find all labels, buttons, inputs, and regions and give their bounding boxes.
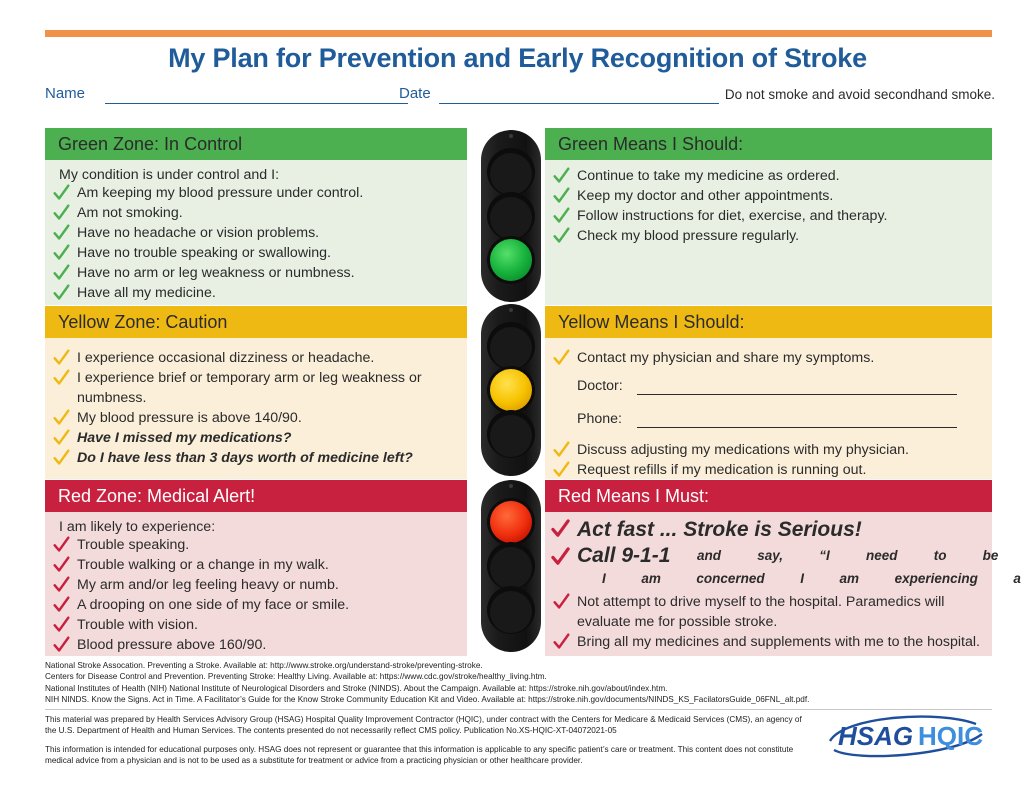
- yellow-means-list-bottom: Discuss adjusting my medications with my…: [549, 441, 982, 481]
- funding-disclaimer-text: This material was prepared by Health Ser…: [45, 714, 805, 736]
- quote-word: need: [866, 544, 898, 567]
- quote-word: “I: [819, 544, 830, 567]
- doctor-label: Doctor:: [577, 378, 623, 394]
- stroke-action-plan-page: My Plan for Prevention and Early Recogni…: [0, 0, 1035, 800]
- check-icon: [553, 226, 570, 245]
- phone-field-row: Phone:: [549, 408, 982, 441]
- list-item-label: Check my blood pressure regularly.: [577, 228, 799, 244]
- list-item: My arm and/or leg feeling heavy or numb.: [49, 576, 457, 596]
- quote-line-1: and say, “I need to be evaluated: [697, 544, 1035, 567]
- quote-word: am: [641, 567, 661, 590]
- red-means-list: Not attempt to drive myself to the hospi…: [549, 593, 982, 652]
- list-item: Blood pressure above 160/90.: [49, 636, 457, 656]
- check-icon: [53, 283, 70, 302]
- list-item: Have no trouble speaking or swallowing.: [49, 244, 457, 264]
- educational-disclaimer: This information is intended for educati…: [45, 744, 805, 766]
- green-means-list: Continue to take my medicine as ordered.…: [549, 167, 982, 247]
- green-zone-left-panel: Green Zone: In Control My condition is u…: [45, 128, 467, 305]
- list-item-label: Am not smoking.: [77, 205, 183, 221]
- list-item-label: Have no headache or vision problems.: [77, 225, 319, 241]
- call-911-quote: and say, “I need to be evaluated I am: [697, 544, 1035, 590]
- list-item: Trouble with vision.: [49, 616, 457, 636]
- list-item: Have no headache or vision problems.: [49, 224, 457, 244]
- green-means-heading: Green Means I Should:: [545, 128, 992, 160]
- red-zone-body: I am likely to experience: Trouble speak…: [45, 512, 467, 656]
- quote-word: concerned: [696, 567, 764, 590]
- check-icon: [53, 448, 70, 467]
- list-item: Continue to take my medicine as ordered.: [549, 167, 982, 187]
- reference-item: National Institutes of Health (NIH) Nati…: [45, 683, 992, 694]
- reference-item: Centers for Disease Control and Preventi…: [45, 671, 992, 682]
- references-block: National Stroke Assocation. Preventing a…: [45, 660, 992, 706]
- red-means-heading: Red Means I Must:: [545, 480, 992, 512]
- check-icon: [553, 186, 570, 205]
- green-zone-right-panel: Green Means I Should: Continue to take m…: [545, 128, 992, 305]
- list-item: Have no arm or leg weakness or numbness.: [49, 264, 457, 284]
- name-input-line[interactable]: [105, 103, 408, 104]
- yellow-zone-left-panel: Yellow Zone: Caution I experience occasi…: [45, 306, 467, 479]
- list-item: Not attempt to drive myself to the hospi…: [549, 593, 982, 632]
- list-item-label: Do I have less than 3 days worth of medi…: [77, 450, 413, 466]
- traffic-light-green: [478, 128, 544, 309]
- list-item: Am not smoking.: [49, 204, 457, 224]
- list-item-label: I experience occasional dizziness or hea…: [77, 350, 374, 366]
- check-icon: [53, 368, 70, 387]
- yellow-zone-list: I experience occasional dizziness or hea…: [49, 345, 457, 468]
- check-icon: [553, 348, 570, 367]
- check-icon: [553, 460, 570, 479]
- quote-word: experiencing: [895, 567, 978, 590]
- quote-word: say,: [757, 544, 783, 567]
- list-item: Follow instructions for diet, exercise, …: [549, 207, 982, 227]
- yellow-zone-right-panel: Yellow Means I Should: Contact my physic…: [545, 306, 992, 479]
- quote-word: to: [934, 544, 947, 567]
- top-accent-rule: [45, 30, 992, 37]
- check-icon: [53, 243, 70, 262]
- quote-word: a: [1013, 567, 1021, 590]
- check-icon: [53, 263, 70, 282]
- act-fast-line: Act fast ... Stroke is Serious!: [549, 517, 982, 542]
- list-item-label: Contact my physician and share my sympto…: [577, 350, 874, 366]
- list-item-label: Keep my doctor and other appointments.: [577, 188, 833, 204]
- green-zone-heading: Green Zone: In Control: [45, 128, 467, 160]
- list-item-label: A drooping on one side of my face or smi…: [77, 597, 349, 613]
- check-icon: [553, 166, 570, 185]
- no-smoking-note: Do not smoke and avoid secondhand smoke.: [705, 87, 995, 102]
- check-icon: [553, 632, 570, 651]
- page-title: My Plan for Prevention and Early Recogni…: [0, 43, 1035, 74]
- red-zone-left-panel: Red Zone: Medical Alert! I am likely to …: [45, 480, 467, 656]
- check-icon: [53, 615, 70, 634]
- yellow-zone-heading: Yellow Zone: Caution: [45, 306, 467, 338]
- date-label: Date: [399, 85, 431, 102]
- list-item-label: Discuss adjusting my medications with my…: [577, 442, 909, 458]
- check-icon: [53, 203, 70, 222]
- list-item-label: Blood pressure above 160/90.: [77, 637, 266, 653]
- list-item-label: Am keeping my blood pressure under contr…: [77, 185, 363, 201]
- check-icon: [553, 592, 570, 611]
- phone-label: Phone:: [577, 411, 622, 427]
- check-icon: [53, 535, 70, 554]
- logo-primary-text: HSAG: [838, 721, 913, 751]
- green-means-body: Continue to take my medicine as ordered.…: [545, 160, 992, 305]
- list-item: Trouble speaking.: [49, 536, 457, 556]
- list-item: I experience occasional dizziness or hea…: [49, 349, 457, 369]
- green-zone-intro: My condition is under control and I:: [49, 167, 457, 183]
- list-item: Have all my medicine.: [49, 284, 457, 304]
- list-item-label: Trouble speaking.: [77, 537, 189, 553]
- list-item-label: Have no trouble speaking or swallowing.: [77, 245, 331, 261]
- quote-word: I: [800, 567, 804, 590]
- red-zone-intro: I am likely to experience:: [49, 519, 457, 535]
- check-icon: [53, 635, 70, 654]
- list-item: Request refills if my medication is runn…: [549, 461, 982, 481]
- hsag-hqic-logo: HSAG HQIC: [826, 708, 996, 763]
- funding-disclaimer: This material was prepared by Health Ser…: [45, 714, 805, 736]
- list-item-label: Trouble walking or a change in my walk.: [77, 557, 329, 573]
- list-item: A drooping on one side of my face or smi…: [49, 596, 457, 616]
- list-item-label: Trouble with vision.: [77, 617, 198, 633]
- call-911-line: Call 9-1-1 and say, “I need to be evalua…: [549, 544, 982, 567]
- quote-line-2: I am concerned I am experiencing a strok…: [602, 567, 1035, 590]
- list-item-label: Have all my medicine.: [77, 285, 216, 301]
- check-icon: [53, 428, 70, 447]
- check-icon: [551, 546, 570, 567]
- doctor-field-row: Doctor:: [549, 375, 982, 408]
- doctor-input-line[interactable]: [637, 394, 957, 395]
- check-icon: [53, 595, 70, 614]
- reference-item: National Stroke Assocation. Preventing a…: [45, 660, 992, 671]
- phone-input-line[interactable]: [637, 427, 957, 428]
- red-zone-heading: Red Zone: Medical Alert!: [45, 480, 467, 512]
- list-item-label: Have no arm or leg weakness or numbness.: [77, 265, 355, 281]
- call-911-label: Call 9-1-1: [577, 544, 670, 567]
- list-item: Do I have less than 3 days worth of medi…: [49, 449, 457, 469]
- list-item-label: Follow instructions for diet, exercise, …: [577, 208, 887, 224]
- list-item: Contact my physician and share my sympto…: [549, 349, 982, 369]
- list-item-label: Have I missed my medications?: [77, 430, 291, 446]
- list-item: Check my blood pressure regularly.: [549, 227, 982, 247]
- educational-disclaimer-text: This information is intended for educati…: [45, 744, 805, 766]
- yellow-means-heading: Yellow Means I Should:: [545, 306, 992, 338]
- quote-word: am: [840, 567, 860, 590]
- green-zone-body: My condition is under control and I: Am …: [45, 160, 467, 305]
- yellow-means-list-top: Contact my physician and share my sympto…: [549, 345, 982, 369]
- list-item-label: My arm and/or leg feeling heavy or numb.: [77, 577, 339, 593]
- green-zone-list: Am keeping my blood pressure under contr…: [49, 184, 457, 304]
- list-item-label: Not attempt to drive myself to the hospi…: [577, 594, 944, 630]
- check-icon: [53, 183, 70, 202]
- quote-word: be: [983, 544, 999, 567]
- list-item: Trouble walking or a change in my walk.: [49, 556, 457, 576]
- red-zone-right-panel: Red Means I Must: Act fast ... Stroke is…: [545, 480, 992, 656]
- check-icon: [53, 223, 70, 242]
- check-icon: [53, 575, 70, 594]
- yellow-zone-body: I experience occasional dizziness or hea…: [45, 338, 467, 479]
- list-item-label: My blood pressure is above 140/90.: [77, 410, 302, 426]
- check-icon: [551, 518, 570, 539]
- list-item-label: Request refills if my medication is runn…: [577, 462, 866, 478]
- quote-word: and: [697, 544, 721, 567]
- date-input-line[interactable]: [439, 103, 719, 104]
- check-icon: [53, 408, 70, 427]
- red-means-body: Act fast ... Stroke is Serious! Call 9-1…: [545, 512, 992, 656]
- list-item: My blood pressure is above 140/90.: [49, 409, 457, 429]
- list-item: Keep my doctor and other appointments.: [549, 187, 982, 207]
- list-item: Discuss adjusting my medications with my…: [549, 441, 982, 461]
- quote-word: I: [602, 567, 606, 590]
- name-label: Name: [45, 85, 85, 102]
- list-item: Am keeping my blood pressure under contr…: [49, 184, 457, 204]
- reference-item: NIH NINDS. Know the Signs. Act in Time. …: [45, 694, 992, 705]
- act-fast-label: Act fast ... Stroke is Serious!: [577, 517, 912, 542]
- yellow-means-body: Contact my physician and share my sympto…: [545, 338, 992, 479]
- list-item: I experience brief or temporary arm or l…: [49, 369, 457, 408]
- check-icon: [553, 206, 570, 225]
- red-zone-list: Trouble speaking. Trouble walking or a c…: [49, 536, 457, 656]
- patient-id-line: Name Date Do not smoke and avoid secondh…: [45, 85, 992, 107]
- check-icon: [53, 348, 70, 367]
- list-item-label: I experience brief or temporary arm or l…: [77, 370, 422, 406]
- traffic-light-yellow: [478, 302, 544, 483]
- traffic-light-red: [478, 478, 544, 659]
- check-icon: [53, 555, 70, 574]
- list-item: Bring all my medicines and supplements w…: [549, 633, 982, 653]
- check-icon: [553, 440, 570, 459]
- logo-secondary-text: HQIC: [918, 721, 983, 751]
- list-item-label: Continue to take my medicine as ordered.: [577, 168, 840, 184]
- list-item-label: Bring all my medicines and supplements w…: [577, 634, 980, 650]
- list-item: Have I missed my medications?: [49, 429, 457, 449]
